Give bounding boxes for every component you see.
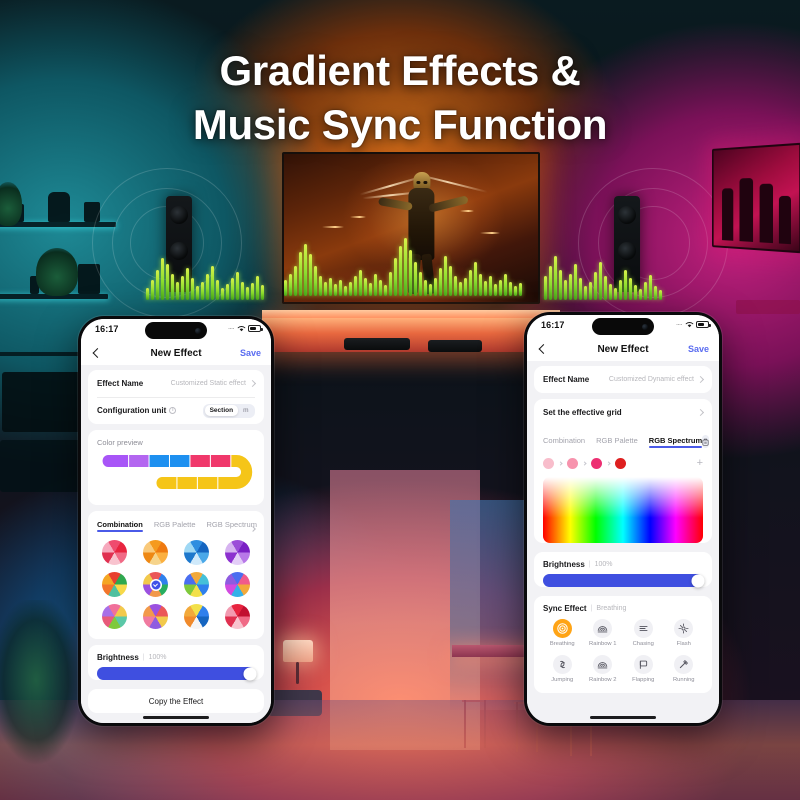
dynamic-island [592, 318, 654, 335]
brightness-slider-fill [543, 574, 703, 587]
sync-effect-label: Breathing [550, 641, 575, 648]
page-title: New Effect [150, 348, 201, 359]
sync-effect-label: Flapping [632, 677, 654, 684]
nav-bar-left: New Effect Save [81, 341, 271, 365]
configuration-unit-row[interactable]: Configuration unit i Section m [97, 397, 255, 424]
configuration-unit-label: Configuration unit [97, 406, 166, 415]
front-camera-icon [642, 324, 648, 330]
brightness-slider[interactable] [97, 667, 255, 680]
status-time: 16:17 [541, 320, 565, 330]
lamp-stand [296, 662, 299, 684]
media-box [428, 340, 482, 352]
wifi-icon [685, 321, 694, 328]
effective-grid-label: Set the effective grid [543, 408, 622, 417]
brightness-card: Brightness | 100% [88, 645, 264, 680]
status-bar-right: 16:17 ···· [527, 315, 719, 337]
effect-name-label: Effect Name [543, 375, 589, 384]
save-button[interactable]: Save [240, 348, 261, 358]
audio-visualizer [284, 238, 522, 296]
sync-effect-label: Sync Effect [543, 604, 587, 613]
shelf [736, 300, 800, 314]
sync-effect-rainbow-1[interactable]: Rainbow 1 [584, 619, 623, 648]
wifi-icon [237, 325, 246, 332]
brightness-value: 100% [149, 654, 167, 661]
sync-effect-breathing[interactable]: Breathing [543, 619, 582, 648]
color-swatch-4[interactable] [615, 458, 626, 469]
headline-line-1: Gradient Effects & [0, 44, 800, 98]
tv-screen [282, 152, 540, 304]
sync-effect-label: Rainbow 1 [589, 641, 616, 648]
sync-effect-label: Jumping [551, 677, 573, 684]
sync-effect-flash[interactable]: Flash [665, 619, 704, 648]
sync-effect-card: Sync Effect | Breathing BreathingRainbow… [534, 596, 712, 693]
effective-grid-row[interactable]: Set the effective grid [543, 399, 703, 426]
configuration-unit-segmented-control[interactable]: Section m [203, 404, 255, 418]
flash-icon [674, 619, 693, 638]
color-wheel-w6[interactable] [143, 572, 168, 597]
back-chevron-icon[interactable] [538, 345, 547, 354]
sync-effect-rainbow-2[interactable]: Rainbow 2 [584, 655, 623, 684]
media-cabinet-top [262, 310, 560, 318]
chasing-icon [634, 619, 653, 638]
brightness-label: Brightness [543, 560, 585, 569]
copy-the-effect-button[interactable]: Copy the Effect [88, 689, 264, 713]
segment-meter[interactable]: m [238, 405, 253, 416]
sync-effect-header: Sync Effect | Breathing [543, 596, 703, 619]
chevron-right-icon [582, 461, 586, 465]
page-title: New Effect [597, 344, 648, 355]
settings-card: Effect Name Customized Static effect Con… [88, 370, 264, 424]
color-wheel-w5[interactable] [102, 572, 127, 597]
sync-effect-label: Flash [677, 641, 691, 648]
soundbar [344, 338, 410, 350]
color-swatch-2[interactable] [567, 458, 578, 469]
shelf-trinket [48, 192, 70, 222]
info-icon[interactable]: i [169, 407, 176, 414]
color-wheel-w4[interactable] [225, 540, 250, 565]
sync-effect-grid: BreathingRainbow 1ChasingFlashJumpingRai… [543, 619, 703, 693]
palette-tabs: Combination RGB Palette RGB Spectrum [543, 426, 703, 453]
color-preview-title: Color preview [97, 430, 255, 451]
sync-effect-value: Breathing [596, 605, 626, 612]
rgb-spectrum-picker[interactable] [543, 477, 703, 543]
color-wheel-w10[interactable] [143, 604, 168, 629]
tab-combination[interactable]: Combination [543, 436, 585, 448]
nav-bar-right: New Effect Save [527, 337, 719, 361]
brightness-header: Brightness | 100% [97, 645, 255, 667]
screen-content-right: Effect Name Customized Dynamic effect Se… [527, 361, 719, 723]
color-wheel-grid [97, 537, 255, 639]
audio-visualizer-left [146, 252, 264, 300]
brightness-slider-fill [97, 667, 255, 680]
headline: Gradient Effects & Music Sync Function [0, 44, 800, 152]
battery-icon [248, 325, 261, 332]
breathing-icon [553, 619, 572, 638]
spectrum-card: Set the effective grid Combination RGB P… [534, 399, 712, 543]
home-indicator[interactable] [143, 716, 209, 719]
tab-combination[interactable]: Combination [97, 520, 143, 532]
chevron-right-icon [606, 461, 610, 465]
back-chevron-icon[interactable] [92, 349, 101, 358]
color-swatch-1[interactable] [543, 458, 554, 469]
color-swatch-row: + [543, 453, 703, 477]
status-bar-left: 16:17 ···· [81, 319, 271, 341]
color-wheel-w2[interactable] [143, 540, 168, 565]
sync-effect-chasing[interactable]: Chasing [624, 619, 663, 648]
effect-name-label: Effect Name [97, 379, 143, 388]
sync-effect-label: Chasing [633, 641, 654, 648]
signal-dots-icon: ···· [228, 326, 234, 332]
color-wheel-w8[interactable] [225, 572, 250, 597]
color-swatch-3[interactable] [591, 458, 602, 469]
phone-right: 16:17 ···· New Effect Save Effect Name [524, 312, 722, 726]
brightness-slider[interactable] [543, 574, 703, 587]
segment-section[interactable]: Section [205, 405, 238, 416]
signal-dots-icon: ···· [676, 322, 682, 328]
effect-name-value: Customized Static effect [171, 380, 246, 387]
chevron-right-icon [249, 380, 256, 387]
chevron-right-icon [697, 409, 704, 416]
sync-effect-label: Running [673, 677, 695, 684]
effect-name-row[interactable]: Effect Name Customized Static effect [97, 370, 255, 397]
tab-rgb-spectrum[interactable]: RGB Spectrum [207, 520, 257, 532]
plant [36, 248, 78, 296]
home-indicator[interactable] [590, 716, 656, 719]
color-wheel-w3[interactable] [184, 540, 209, 565]
led-strip-graphic [97, 451, 255, 495]
effect-name-value: Customized Dynamic effect [609, 376, 694, 383]
palette-card: Combination RGB Palette RGB Spectrum [88, 511, 264, 639]
brightness-label: Brightness [97, 653, 139, 662]
chevron-right-icon [697, 376, 704, 383]
trash-icon[interactable] [702, 435, 709, 448]
jumping-icon [553, 655, 572, 674]
audio-visualizer-right [544, 252, 662, 300]
phone-left: 16:17 ···· New Effect Save Effect Name [78, 316, 274, 726]
brightness-card: Brightness | 100% [534, 552, 712, 587]
floor-plant [0, 600, 90, 800]
color-wheel-w9[interactable] [102, 604, 127, 629]
save-button[interactable]: Save [688, 344, 709, 354]
tab-rgb-palette[interactable]: RGB Palette [154, 520, 196, 532]
media-cabinet [262, 318, 560, 352]
status-time: 16:17 [95, 324, 119, 334]
effect-name-row[interactable]: Effect Name Customized Dynamic effect [543, 366, 703, 393]
tv-screen-right [712, 143, 800, 254]
color-preview-card: Color preview [88, 430, 264, 505]
color-preview-strip[interactable] [97, 451, 255, 505]
flapping-icon [634, 655, 653, 674]
front-camera-icon [195, 328, 201, 334]
table-lamp [283, 640, 313, 662]
color-wheel-w12[interactable] [225, 604, 250, 629]
tab-rgb-spectrum[interactable]: RGB Spectrum [649, 436, 702, 448]
rainbow-icon [593, 619, 612, 638]
color-wheel-w1[interactable] [102, 540, 127, 565]
brightness-slider-knob[interactable] [244, 667, 257, 680]
brightness-header: Brightness | 100% [543, 552, 703, 574]
sync-effect-flapping[interactable]: Flapping [624, 655, 663, 684]
chevron-right-icon [558, 461, 562, 465]
effect-name-card: Effect Name Customized Dynamic effect [534, 366, 712, 393]
screen-content-left: Effect Name Customized Static effect Con… [81, 365, 271, 723]
color-wheel-w7[interactable] [184, 572, 209, 597]
check-icon [151, 580, 160, 589]
battery-icon [696, 321, 709, 328]
sync-effect-jumping[interactable]: Jumping [543, 655, 582, 684]
sync-effect-label: Rainbow 2 [589, 677, 616, 684]
sync-effect-running[interactable]: Running [665, 655, 704, 684]
color-wheel-w11[interactable] [184, 604, 209, 629]
tab-rgb-palette[interactable]: RGB Palette [596, 436, 638, 448]
running-icon [674, 655, 693, 674]
palette-tabs: Combination RGB Palette RGB Spectrum [97, 511, 255, 537]
brightness-value: 100% [595, 561, 613, 568]
rainbow-icon [593, 655, 612, 674]
headline-line-2: Music Sync Function [0, 98, 800, 152]
dynamic-island [145, 322, 207, 339]
add-color-button[interactable]: + [697, 458, 703, 469]
brightness-slider-knob[interactable] [692, 574, 705, 587]
